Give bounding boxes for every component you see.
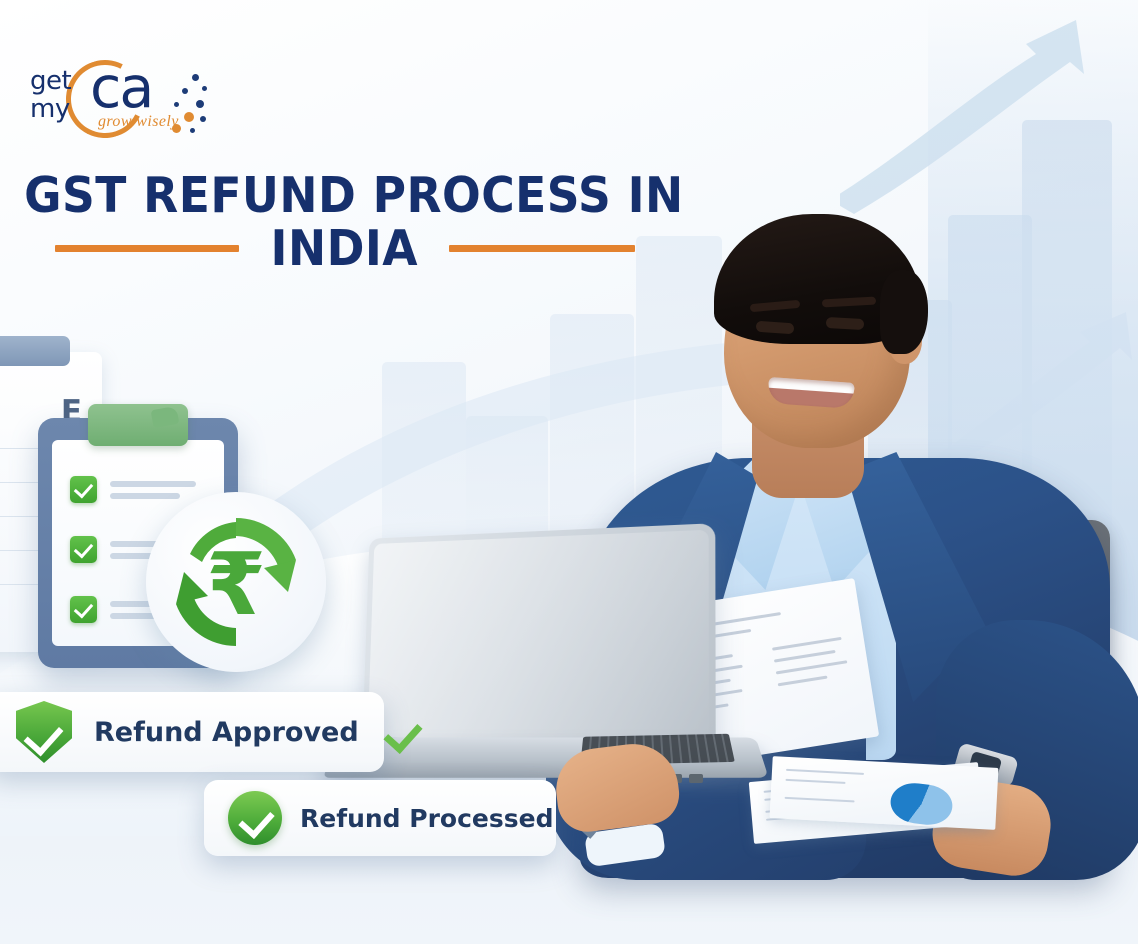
logo-dots-decoration xyxy=(166,72,210,138)
poster-canvas: get my ca grow wisely GST REFUND PROCESS… xyxy=(0,0,1138,944)
shield-check-icon xyxy=(16,701,72,763)
brand-logo[interactable]: get my ca grow wisely xyxy=(18,52,208,144)
logo-word-my: my xyxy=(30,94,70,124)
status-label: Refund Approved xyxy=(94,717,359,748)
rupee-refund-cycle-icon: ₹ xyxy=(146,492,326,672)
title-rule-left xyxy=(55,245,239,252)
logo-word-ca: ca xyxy=(90,60,152,117)
title-line-2: INDIA xyxy=(270,224,417,273)
check-icon xyxy=(70,596,97,623)
report-paper xyxy=(770,756,999,830)
check-icon xyxy=(381,712,421,752)
check-icon xyxy=(70,536,97,563)
pie-chart-icon xyxy=(888,780,954,827)
logo-word-get: get xyxy=(30,66,71,96)
clipboard-clasp-icon xyxy=(88,404,188,446)
circle-check-icon xyxy=(228,791,282,845)
hair xyxy=(714,214,922,344)
eye-right xyxy=(826,317,865,330)
silver-laptop xyxy=(330,530,762,800)
svg-text:₹: ₹ xyxy=(206,535,266,635)
status-label: Refund Processed xyxy=(300,804,554,833)
status-badge-refund-approved[interactable]: Refund Approved xyxy=(0,692,384,772)
desk-report-papers xyxy=(745,758,1015,850)
check-icon xyxy=(70,476,97,503)
status-badge-refund-processed[interactable]: Refund Processed xyxy=(204,780,556,856)
document-clip-icon xyxy=(0,336,70,366)
